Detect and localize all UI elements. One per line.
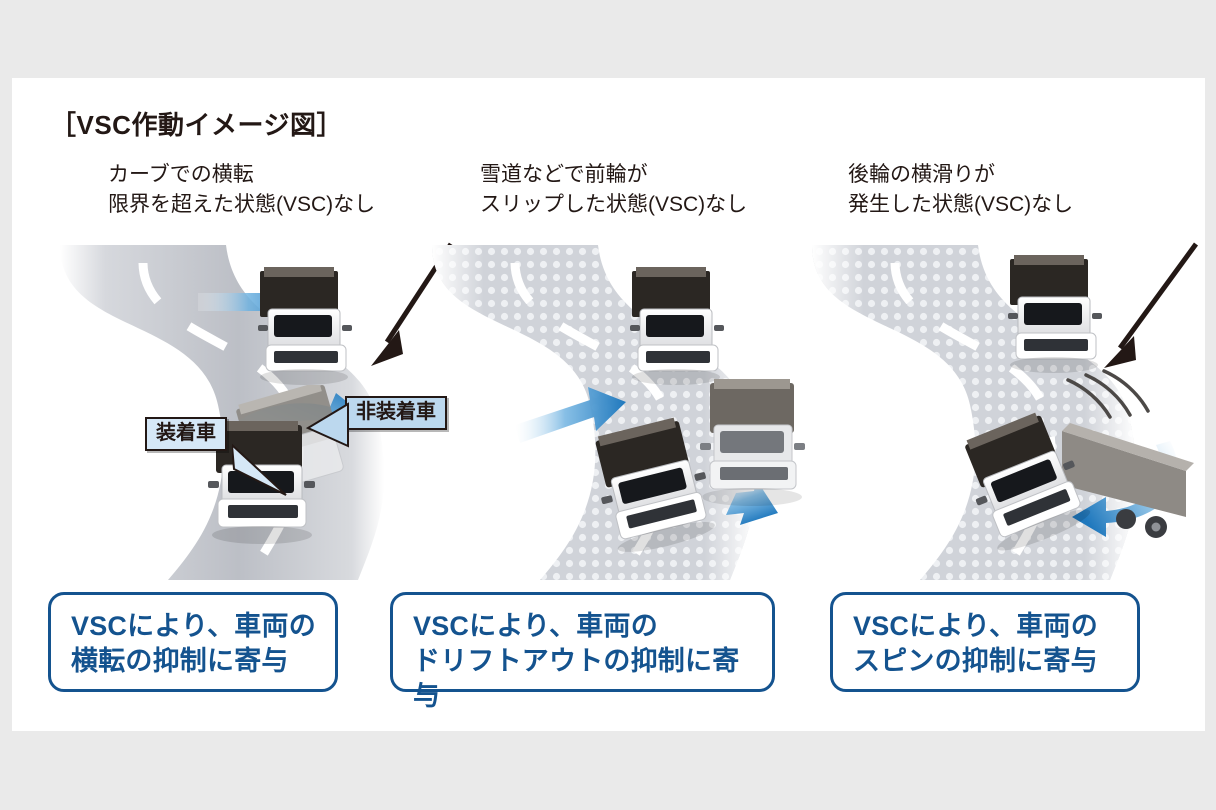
conclusion-box-rollover: VSCにより、車両の 横転の抑制に寄与 <box>48 592 338 692</box>
bubble-equipped: 装着車 <box>145 417 227 451</box>
conclusion-line-2: スピンの抑制に寄与 <box>853 644 1119 679</box>
caption-line-1: 後輪の横滑りが <box>848 160 1073 190</box>
caption-line-2: 限界を超えた状態(VSC)なし <box>108 190 375 220</box>
swung-cargo-body <box>1062 423 1194 538</box>
panel-drift-out-caption: 雪道などで前輪が スリップした状態(VSC)なし <box>480 160 747 220</box>
page-title: ［VSC作動イメージ図］ <box>50 105 343 142</box>
conclusion-box-drift-out: VSCにより、車両の ドリフトアウトの抑制に寄与 <box>390 592 775 692</box>
truck-spinning-out <box>950 395 1200 575</box>
figure-root: ［VSC作動イメージ図］ カーブでの横転 限界を超えた状態(VSC)なし <box>0 0 1216 810</box>
conclusion-line-1: VSCにより、車両の <box>853 611 1098 641</box>
conclusion-line-2: ドリフトアウトの抑制に寄与 <box>413 644 754 714</box>
bubble-not-equipped-tail <box>304 402 364 462</box>
panel-drift-out-scene <box>420 245 820 580</box>
panel-spin-caption: 後輪の横滑りが 発生した状態(VSC)なし <box>848 160 1073 220</box>
caption-line-2: 発生した状態(VSC)なし <box>848 190 1073 220</box>
conclusion-line-1: VSCにより、車両の <box>413 611 658 641</box>
conclusion-box-spin: VSCにより、車両の スピンの抑制に寄与 <box>830 592 1140 692</box>
panel-spin: 後輪の横滑りが 発生した状態(VSC)なし <box>800 160 1200 600</box>
conclusion-line-2: 横転の抑制に寄与 <box>71 644 317 679</box>
caption-line-1: カーブでの横転 <box>108 160 375 190</box>
conclusion-line-1: VSCにより、車両の <box>71 611 316 641</box>
caption-line-1: 雪道などで前輪が <box>480 160 747 190</box>
panel-spin-scene <box>800 245 1200 580</box>
truck-upper-normal <box>988 253 1128 383</box>
panel-rollover-caption: カーブでの横転 限界を超えた状態(VSC)なし <box>108 160 375 220</box>
panel-rollover: カーブでの横転 限界を超えた状態(VSC)なし <box>48 160 448 600</box>
caption-line-2: スリップした状態(VSC)なし <box>480 190 747 220</box>
panel-drift-out: 雪道などで前輪が スリップした状態(VSC)なし <box>420 160 820 600</box>
